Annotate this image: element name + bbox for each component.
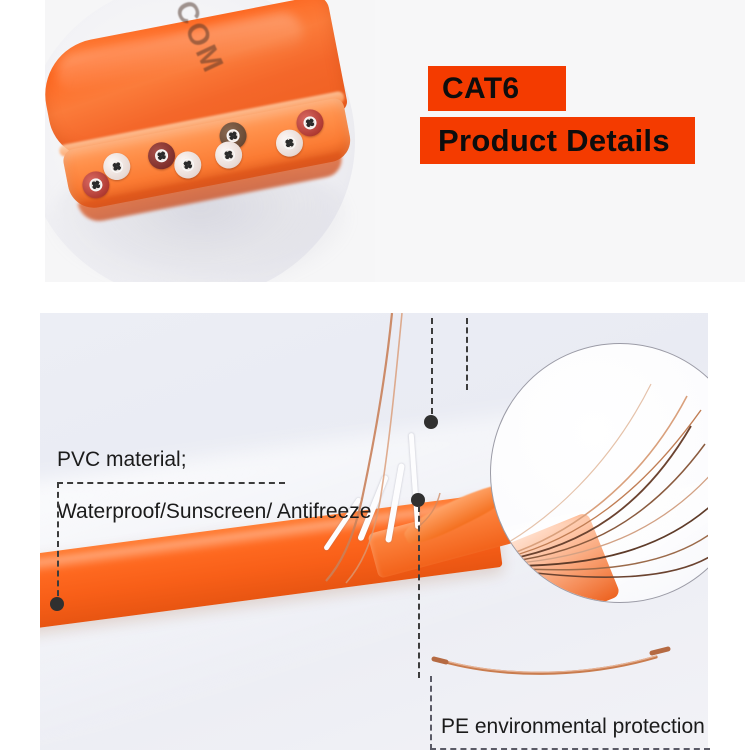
- conductor-core: [88, 177, 103, 192]
- conductor-core: [282, 136, 297, 151]
- callout-dot-conductor-upper: [424, 415, 438, 429]
- leader-line-guide-secondary: [466, 318, 468, 390]
- conductor-core: [154, 148, 169, 163]
- annotation-pe-flame-retardant: PE environmental protection flame retard…: [441, 686, 705, 750]
- leader-line-conductor-upper: [431, 318, 433, 424]
- leader-line-pvc-vertical: [57, 482, 59, 606]
- callout-dot-jacket: [50, 597, 64, 611]
- banner-cat6: CAT6: [428, 66, 566, 111]
- top-photo-panel: COM: [45, 0, 745, 282]
- conductor-4-white: [172, 149, 204, 181]
- conductor-core: [302, 115, 317, 130]
- conductor-core: [221, 147, 236, 162]
- banner-product-details-label: Product Details: [438, 123, 670, 159]
- conductor-core: [180, 157, 195, 172]
- annotation-pe-line1: PE environmental protection: [441, 713, 705, 740]
- callout-dot-conductor-lower: [411, 493, 425, 507]
- leader-line-conductor-lower: [418, 506, 420, 678]
- magnified-copper-strands: [491, 344, 708, 602]
- leader-line-pvc-horizontal: [57, 482, 285, 484]
- magnifier-inset: [490, 343, 708, 603]
- conductor-core: [109, 159, 124, 174]
- cable-cross-section-photo: COM: [45, 0, 375, 282]
- annotation-pvc-line2: Waterproof/Sunscreen/ Antifreeze: [57, 499, 371, 525]
- product-image-canvas: COM: [0, 0, 750, 750]
- conductor-3-maroon: [146, 140, 178, 172]
- banner-product-details: Product Details: [420, 117, 695, 164]
- annotation-pvc-material: PVC material; Waterproof/Sunscreen/ Anti…: [57, 421, 371, 551]
- annotation-pvc-line1: PVC material;: [57, 447, 371, 473]
- banner-cat6-label: CAT6: [442, 72, 519, 106]
